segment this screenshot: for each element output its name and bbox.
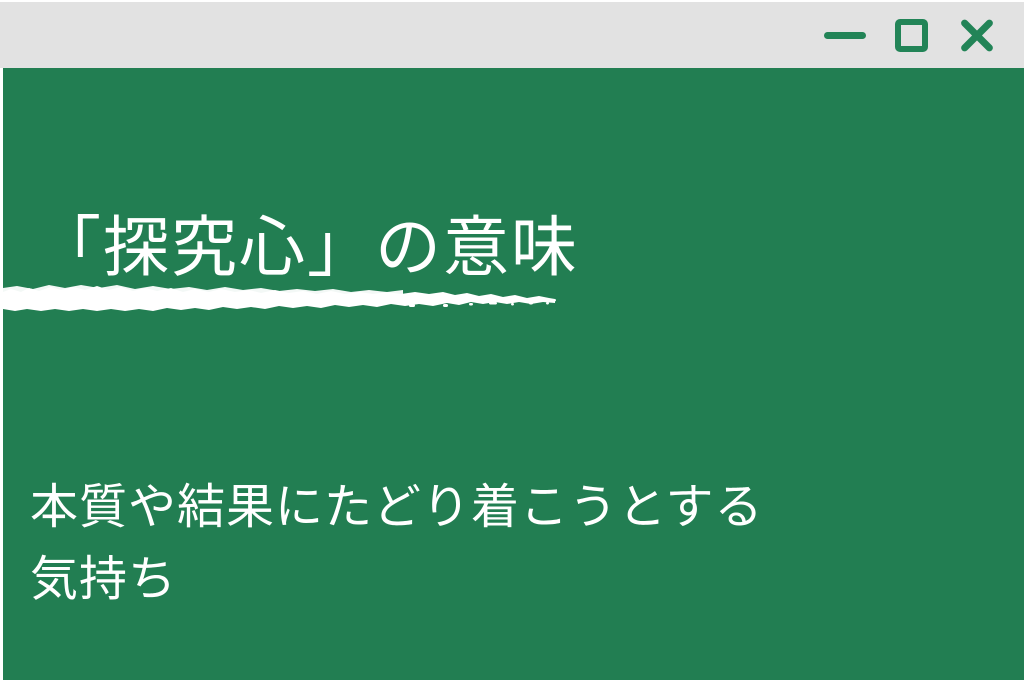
minimize-icon <box>824 32 866 39</box>
minimize-button[interactable] <box>822 12 868 58</box>
maximize-icon <box>895 19 928 52</box>
brush-stroke-divider-icon <box>3 278 563 318</box>
maximize-button[interactable] <box>888 12 934 58</box>
slide-title: 「探究心」の意味 <box>35 216 579 282</box>
close-icon <box>958 16 996 54</box>
window-frame: 「探究心」の意味 <box>0 0 1024 683</box>
slide-canvas: 「探究心」の意味 <box>3 68 1024 680</box>
title-bar-surface[interactable] <box>3 2 1024 68</box>
close-button[interactable] <box>954 12 1000 58</box>
window-controls <box>822 2 1000 68</box>
title-bar[interactable] <box>0 2 1024 68</box>
slide-body-text: 本質や結果にたどり着こうとする 気持ち <box>30 472 930 616</box>
